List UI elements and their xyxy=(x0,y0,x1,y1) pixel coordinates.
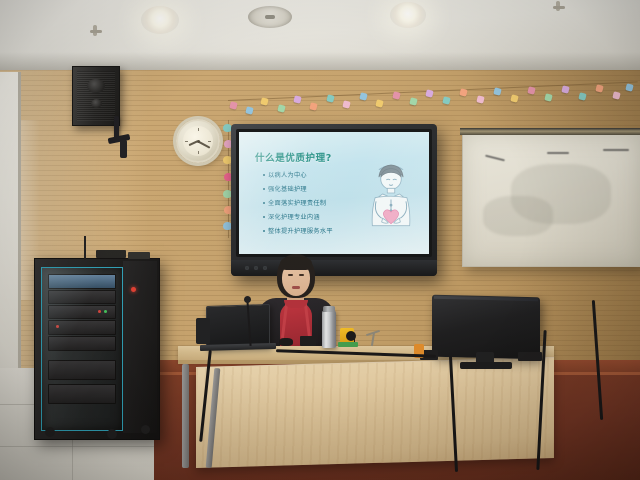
garland-star xyxy=(527,86,535,94)
downlight-right-icon xyxy=(390,2,426,28)
garland-star xyxy=(561,85,569,93)
speaker-wall-plate xyxy=(120,140,127,158)
rack-caster-icon xyxy=(107,429,117,439)
garland-star xyxy=(459,88,467,96)
whiteboard-mark xyxy=(603,149,629,151)
thermos-cap[interactable] xyxy=(323,306,335,312)
garland-star xyxy=(309,102,317,110)
paper-star-garland xyxy=(226,84,640,120)
wall-speaker xyxy=(72,66,120,126)
av-equipment-rack[interactable] xyxy=(34,258,160,440)
clock-tick-12 xyxy=(198,128,199,131)
left-window-frame xyxy=(18,72,21,372)
garland-star xyxy=(375,99,383,107)
rack-top-device xyxy=(96,250,126,258)
toy-base xyxy=(338,342,358,347)
rack-caster-icon xyxy=(45,427,55,437)
garland-star xyxy=(409,97,417,105)
clock-tick-3 xyxy=(208,141,211,142)
microphone-head-icon xyxy=(244,296,251,303)
whiteboard-top-rail xyxy=(460,128,640,135)
garland-star xyxy=(476,95,484,103)
classroom-photo: 什么是优质护理? 以病人为中心 强化基础护理 全面落实护理责任制 深化护理专业内… xyxy=(0,0,640,480)
garland-star xyxy=(510,94,518,102)
garland-star xyxy=(326,94,334,102)
rack-glass-door[interactable] xyxy=(41,267,123,431)
toy-camera-lens-icon xyxy=(346,331,356,341)
mouse[interactable] xyxy=(279,338,293,346)
presenter-mouth xyxy=(292,286,300,289)
thermos-bottle[interactable] xyxy=(322,310,336,348)
whiteboard-mark xyxy=(485,155,505,162)
garland-star xyxy=(392,91,400,99)
presenter-fringe xyxy=(280,256,312,270)
garland-star xyxy=(359,92,367,100)
rack-side-panel xyxy=(123,261,157,433)
smartboard-screen[interactable]: 什么是优质护理? 以病人为中心 强化基础护理 全面落实护理责任制 深化护理专业内… xyxy=(239,132,429,254)
garland-star xyxy=(260,97,268,105)
whiteboard-smudge xyxy=(483,196,553,236)
garland-star xyxy=(229,101,237,109)
downlight-left-icon xyxy=(141,6,179,34)
speaker-tweeter-icon xyxy=(91,99,102,108)
rack-caster-icon xyxy=(141,425,150,434)
desk-device[interactable] xyxy=(300,336,316,346)
desk-leg xyxy=(182,364,189,468)
desk-device[interactable] xyxy=(518,352,542,361)
desk-panel-grain xyxy=(196,358,554,468)
rack-door-glass-reflection xyxy=(42,268,122,430)
screen-glare xyxy=(239,132,429,254)
garland-star xyxy=(425,89,433,97)
secondary-screen-back xyxy=(196,318,210,344)
ceiling-speaker-icon xyxy=(248,6,292,28)
left-window-column xyxy=(0,72,20,372)
garland-star xyxy=(442,96,450,104)
garland-star xyxy=(245,106,253,114)
rack-top-cable xyxy=(84,236,86,260)
sprinkler-icon-2 xyxy=(556,1,560,11)
smartboard-power-button[interactable] xyxy=(245,266,249,270)
rack-top-device xyxy=(128,252,150,259)
monitor-base xyxy=(460,362,512,369)
whiteboard-mark xyxy=(547,152,569,154)
whiteboard xyxy=(462,133,640,267)
desktop-monitor[interactable] xyxy=(432,295,540,360)
clock-tick-6 xyxy=(198,151,199,154)
garland-star xyxy=(578,92,586,100)
garland-star xyxy=(277,104,285,112)
garland-star xyxy=(544,93,552,101)
garland-star xyxy=(342,100,350,108)
wall-clock xyxy=(176,119,220,163)
garland-star xyxy=(595,84,603,92)
presenter-eye-left xyxy=(288,274,293,276)
garland-star xyxy=(293,95,301,103)
speaker-driver-icon xyxy=(87,79,105,93)
clock-tick-9 xyxy=(185,141,188,142)
presenter-eye-right xyxy=(299,274,304,276)
rack-power-led xyxy=(131,287,136,292)
garland-star xyxy=(625,83,633,91)
sprinkler-icon-1 xyxy=(93,25,97,36)
desk-front-panel xyxy=(196,357,554,468)
garland-star xyxy=(493,87,501,95)
clock-center-pin xyxy=(197,140,200,143)
garland-star xyxy=(612,91,620,99)
smartboard-inner-bezel: 什么是优质护理? 以病人为中心 强化基础护理 全面落实护理责任制 深化护理专业内… xyxy=(236,129,432,257)
